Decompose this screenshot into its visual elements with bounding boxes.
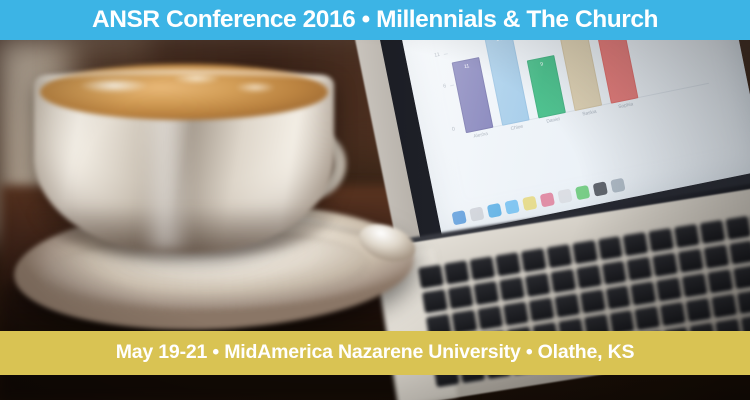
keyboard-key[interactable]: [579, 289, 605, 313]
keyboard-key[interactable]: [546, 244, 572, 268]
mail-icon[interactable]: [504, 199, 519, 214]
y-axis-gridtick-6: [450, 85, 454, 87]
cup-highlight: [140, 110, 192, 250]
notes-icon[interactable]: [522, 195, 537, 210]
keyboard-key[interactable]: [678, 249, 704, 273]
keyboard-key[interactable]: [729, 240, 750, 264]
keyboard-key[interactable]: [674, 224, 700, 248]
keyboard-key[interactable]: [635, 306, 661, 330]
y-axis-tick-11: 11: [428, 53, 441, 61]
messages-icon[interactable]: [575, 184, 590, 199]
conference-title: ANSR Conference 2016 • Millennials & The…: [92, 8, 658, 33]
keyboard-key[interactable]: [528, 298, 554, 322]
keyboard-key[interactable]: [733, 265, 750, 289]
keyboard-key[interactable]: [708, 269, 734, 293]
keyboard-key[interactable]: [469, 256, 495, 280]
cup-rim-highlight: [36, 70, 332, 92]
bar-value-label: 9: [528, 59, 555, 70]
keyboard-key[interactable]: [597, 236, 623, 260]
terminal-icon[interactable]: [593, 181, 608, 196]
keyboard-key[interactable]: [422, 289, 448, 313]
keyboard-key[interactable]: [499, 277, 525, 301]
keyboard-key[interactable]: [682, 273, 708, 297]
bar-value-label: 11: [453, 61, 480, 72]
keyboard-key[interactable]: [660, 302, 686, 326]
keyboard-key[interactable]: [576, 265, 602, 289]
keyboard-key[interactable]: [601, 261, 627, 285]
keyboard-key[interactable]: [704, 244, 730, 268]
conference-details: May 19-21 • MidAmerica Nazarene Universi…: [116, 343, 635, 363]
photos-icon[interactable]: [540, 192, 555, 207]
keyboard-key[interactable]: [448, 285, 474, 309]
keyboard-key[interactable]: [711, 294, 737, 318]
bottom-banner: May 19-21 • MidAmerica Nazarene Universi…: [0, 331, 750, 375]
keyboard-key[interactable]: [648, 228, 674, 252]
y-axis-gridtick-11: [444, 53, 448, 55]
keyboard-key[interactable]: [737, 290, 750, 314]
keyboard-key[interactable]: [725, 216, 750, 240]
bar-alesha[interactable]: 11: [452, 57, 494, 134]
safari-icon[interactable]: [487, 202, 502, 217]
keyboard-key[interactable]: [444, 260, 470, 284]
keyboard-key[interactable]: [656, 277, 682, 301]
keyboard-key[interactable]: [686, 298, 712, 322]
keyboard-key[interactable]: [631, 281, 657, 305]
trash-icon[interactable]: [610, 177, 625, 192]
keyboard-key[interactable]: [652, 253, 678, 277]
finder-icon[interactable]: [451, 210, 466, 225]
launchpad-icon[interactable]: [469, 206, 484, 221]
bar-daniel[interactable]: 9: [527, 55, 566, 119]
keyboard-key[interactable]: [473, 281, 499, 305]
conference-promo-banner: 17 11 6 0 11 Alesha: [0, 0, 750, 400]
keyboard-key[interactable]: [524, 273, 550, 297]
keyboard-key[interactable]: [554, 294, 580, 318]
keyboard-key[interactable]: [503, 302, 529, 326]
music-icon[interactable]: [557, 188, 572, 203]
keyboard-key[interactable]: [477, 306, 503, 330]
y-axis-tick-0: 0: [443, 127, 456, 135]
keyboard-key[interactable]: [627, 257, 653, 281]
keyboard-key[interactable]: [550, 269, 576, 293]
keyboard-key[interactable]: [495, 252, 521, 276]
keyboard-key[interactable]: [418, 264, 444, 288]
top-banner: ANSR Conference 2016 • Millennials & The…: [0, 0, 750, 40]
keyboard-key[interactable]: [572, 240, 598, 264]
keyboard-key[interactable]: [623, 232, 649, 256]
keyboard-key[interactable]: [605, 285, 631, 309]
keyboard-key[interactable]: [520, 248, 546, 272]
keyboard-key[interactable]: [700, 220, 726, 244]
y-axis-tick-6: 6: [434, 84, 447, 92]
